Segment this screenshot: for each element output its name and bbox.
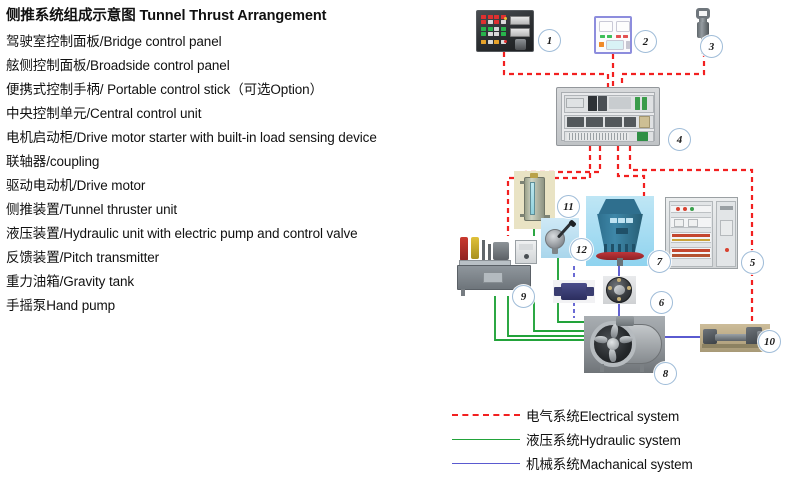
starter-contactor-1 [674, 219, 684, 227]
ccu-module-green-2 [642, 97, 647, 110]
hydraulic-leg-left [461, 289, 465, 296]
list-item: 便携式控制手柄/ Portable control stick（可选Option… [6, 78, 458, 102]
list-item: 反馈装置/Pitch transmitter [6, 246, 458, 270]
starter-wire-bundle-4 [672, 254, 710, 257]
hydraulic-filter-red [460, 237, 468, 261]
list-item: 驱动电动机/Drive motor [6, 174, 458, 198]
ccu-transformer [639, 116, 650, 128]
ccu-green-terminal [637, 132, 648, 141]
list-item: 手摇泵Hand pump [6, 294, 458, 318]
pitch-rod [715, 334, 748, 341]
broadside-chip-green-2 [607, 35, 612, 38]
list-item: 液压装置/Hydraulic unit with electric pump a… [6, 222, 458, 246]
thruster-leg-left [600, 364, 604, 372]
badge-12: 12 [570, 238, 593, 261]
ccu-breaker-2 [586, 117, 603, 127]
list-item: 侧推装置/Tunnel thruster unit [6, 198, 458, 222]
tunnel-thruster-unit[interactable] [584, 316, 665, 373]
badge-1: 1 [538, 29, 561, 52]
motor-cowl [598, 199, 642, 215]
badge-2: 2 [634, 30, 657, 53]
badge-6: 6 [650, 291, 673, 314]
starter-side-rail [720, 206, 733, 210]
broadside-display-lower [606, 40, 624, 50]
pitch-base-plate [702, 344, 764, 348]
hydraulic-pipe-1 [482, 240, 485, 260]
broadside-chip-red-1 [616, 35, 621, 38]
starter-side-module [720, 220, 733, 236]
ccu-breaker-1 [567, 117, 584, 127]
coupling-hub [614, 285, 625, 295]
legend: 电气系统Electrical system 液压系统Hydraulic syst… [452, 403, 788, 475]
button-grid-red [481, 15, 506, 24]
ccu-module-plc [588, 96, 597, 111]
thruster-leg-right [640, 364, 644, 372]
coupling-bolt-1 [617, 278, 621, 282]
ccu-module-psu [566, 98, 584, 108]
ccu-breaker-4 [624, 117, 636, 127]
valve-port-left [554, 287, 562, 296]
thruster-hub [607, 338, 619, 350]
panel-display-upper [510, 16, 530, 25]
valve-block [553, 280, 595, 303]
legend-swatch-mechanical [452, 463, 520, 464]
badge-5: 5 [741, 251, 764, 274]
broadside-chip-red-2 [623, 35, 628, 38]
gravity-tank-flange-bottom [520, 214, 525, 217]
legend-row-hydraulic: 液压系统Hydraulic system [452, 427, 788, 451]
valve-port-right [586, 287, 594, 296]
central-control-unit[interactable] [556, 87, 660, 146]
bridge-control-panel[interactable] [476, 10, 534, 52]
starter-contactor-2 [688, 219, 698, 227]
hydraulic-filter-yellow [471, 237, 479, 259]
broadside-control-panel[interactable] [594, 16, 632, 54]
hydraulic-pipe-2 [488, 244, 491, 260]
drive-motor[interactable] [586, 196, 654, 266]
hydraulic-pump-motor [493, 242, 509, 260]
motor-shaft [617, 258, 623, 266]
hand-pump-port [552, 248, 558, 254]
starter-wire-bundle-1 [672, 234, 710, 237]
gravity-tank-flange-top [520, 181, 525, 184]
legend-label-electrical: 电气系统Electrical system [526, 405, 679, 425]
gravity-tank-sight-gauge [530, 182, 535, 215]
starter-side-lamp [725, 248, 729, 252]
broadside-chip-grey [626, 41, 630, 49]
coupling[interactable] [603, 276, 636, 304]
badge-7: 7 [648, 250, 671, 273]
list-item: 驾驶室控制面板/Bridge control panel [6, 30, 458, 54]
list-item: 舷侧控制面板/Broadside control panel [6, 54, 458, 78]
button-grid-amber [481, 40, 506, 44]
legend-swatch-electrical [452, 414, 520, 416]
broadside-window-right [616, 21, 630, 32]
badge-4: 4 [668, 128, 691, 151]
badge-9: 9 [512, 285, 535, 308]
drive-motor-starter-cabinet[interactable] [665, 197, 738, 269]
motor-vent-3 [626, 218, 633, 223]
ccu-module-plc-2 [598, 96, 607, 111]
starter-lamp-1 [676, 207, 680, 211]
ccu-module-green-1 [635, 97, 640, 110]
hydraulic-box-label [519, 244, 533, 250]
list-item: 重力油箱/Gravity tank [6, 270, 458, 294]
badge-11: 11 [557, 195, 580, 218]
motor-vent-2 [618, 218, 625, 223]
badge-10: 10 [758, 330, 781, 353]
starter-lamp-2 [683, 207, 687, 211]
ccu-terminal-strip [567, 133, 629, 140]
component-list: 侧推系统组成示意图 Tunnel Thrust Arrangement 驾驶室控… [6, 6, 458, 318]
starter-wire-bundle-3 [672, 249, 710, 252]
starter-lamp-3 [690, 207, 694, 211]
list-item: 中央控制单元/Central control unit [6, 102, 458, 126]
motor-nameplate [616, 228, 628, 234]
button-grid-green [481, 27, 506, 36]
panel-indicator [504, 17, 507, 20]
legend-label-hydraulic: 液压系统Hydraulic system [526, 429, 681, 449]
motor-vent-1 [610, 218, 617, 223]
legend-swatch-hydraulic [452, 439, 520, 440]
starter-wire-bundle-2 [672, 239, 710, 241]
coupling-bolt-2 [627, 286, 631, 290]
broadside-chip-green-1 [600, 35, 605, 38]
panel-indicator-2 [504, 40, 507, 43]
page-title: 侧推系统组成示意图 Tunnel Thrust Arrangement [6, 6, 458, 26]
list-item: 电机启动柜/Drive motor starter with built-in … [6, 126, 458, 150]
broadside-chip-orange [599, 42, 604, 47]
badge-3: 3 [700, 35, 723, 58]
ccu-breaker-3 [605, 117, 622, 127]
ccu-module-terminal [609, 97, 631, 109]
coupling-bolt-3 [617, 297, 621, 301]
valve-body [561, 283, 587, 300]
panel-display-lower [510, 28, 530, 37]
panel-joystick[interactable] [515, 39, 526, 50]
list-item: 联轴器/coupling [6, 150, 458, 174]
hydraulic-box-knob [524, 254, 529, 259]
coupling-bolt-4 [608, 286, 612, 290]
hydraulic-tank-plate [483, 272, 503, 283]
broadside-window-left [599, 21, 613, 32]
legend-row-mechanical: 机械系统Machanical system [452, 451, 788, 475]
thruster-top-gearbox [616, 316, 634, 326]
badge-8: 8 [654, 362, 677, 385]
legend-row-electrical: 电气系统Electrical system [452, 403, 788, 427]
gravity-tank-filler-cap [530, 173, 538, 178]
legend-label-mechanical: 机械系统Machanical system [526, 453, 693, 473]
